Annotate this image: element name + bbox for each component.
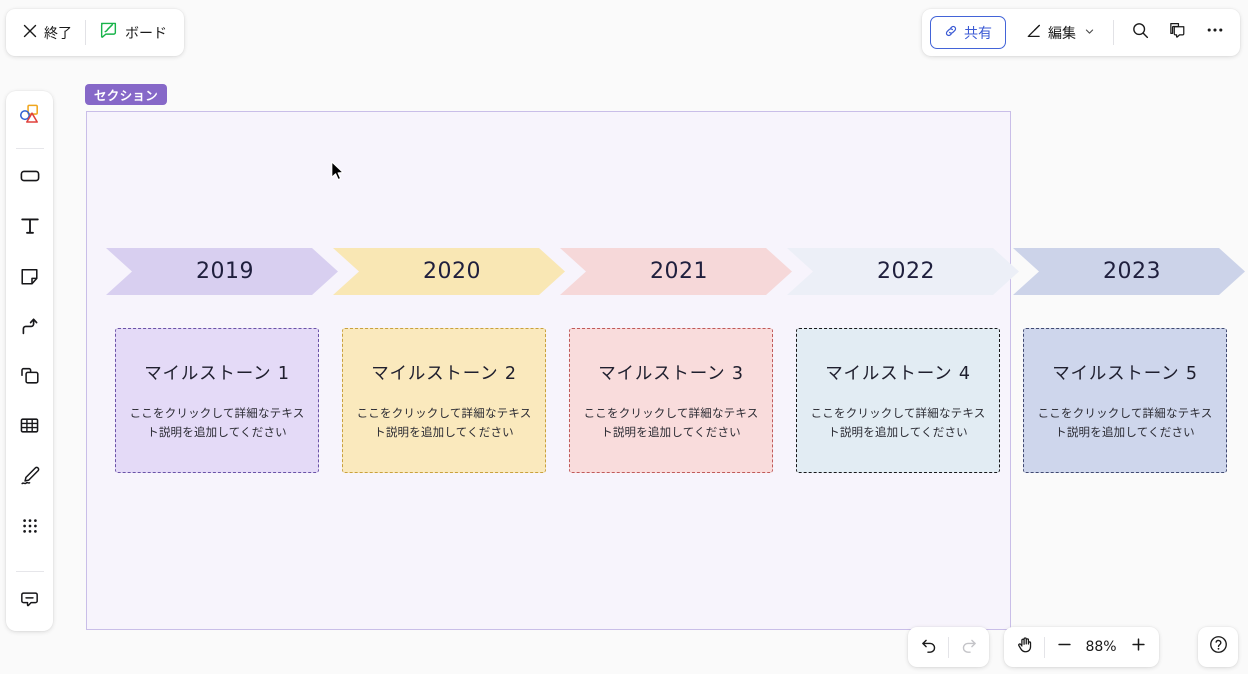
frame-icon	[18, 364, 42, 393]
milestone-title: マイルストーン 4	[825, 360, 971, 385]
connector-icon	[18, 314, 42, 343]
milestone-card[interactable]: マイルストーン 3ここをクリックして詳細なテキスト説明を追加してください	[569, 328, 773, 473]
timeline-arrow-2019[interactable]: 2019	[106, 248, 338, 295]
sidebar-item-pen-draw[interactable]	[11, 457, 49, 499]
timeline-arrow-2022[interactable]: 2022	[787, 248, 1019, 295]
zoom-toolbar: 88%	[1004, 627, 1159, 667]
table-icon	[18, 414, 41, 442]
share-button[interactable]: 共有	[930, 16, 1006, 49]
timeline-arrow-2021[interactable]: 2021	[560, 248, 792, 295]
help-icon	[1208, 634, 1229, 660]
milestone-title: マイルストーン 1	[144, 360, 290, 385]
redo-button[interactable]	[952, 631, 984, 663]
hand-icon	[1016, 635, 1035, 659]
link-icon	[944, 24, 958, 42]
sidebar-item-frame[interactable]	[11, 357, 49, 399]
milestone-title: マイルストーン 2	[371, 360, 517, 385]
more-horizontal-icon	[1205, 20, 1225, 45]
pen-icon	[1026, 23, 1042, 43]
milestone-description: ここをクリックして詳細なテキスト説明を追加してください	[355, 404, 533, 442]
board-label: ボード	[125, 23, 167, 43]
sidebar-item-comment[interactable]	[11, 581, 49, 623]
timeline-arrow-2023[interactable]: 2023	[1013, 248, 1245, 295]
undo-icon	[920, 635, 939, 659]
zoom-in-button[interactable]	[1122, 631, 1154, 663]
exit-label: 終了	[44, 23, 72, 43]
sidebar-item-shapes-library[interactable]	[11, 97, 49, 139]
toolbar-divider	[16, 148, 44, 149]
timeline-year-label: 2021	[644, 259, 708, 284]
zoom-level-label[interactable]: 88%	[1080, 639, 1122, 655]
plus-icon	[1129, 635, 1148, 659]
timeline-year-label: 2022	[871, 259, 935, 284]
edit-label: 編集	[1048, 23, 1076, 43]
edit-mode-button[interactable]: 編集	[1015, 16, 1104, 49]
more-tools-icon	[18, 514, 42, 543]
share-label: 共有	[964, 23, 992, 43]
board-button[interactable]: ボード	[88, 15, 178, 50]
top-left-toolbar: 終了 ボード	[6, 9, 184, 56]
search-button[interactable]	[1123, 15, 1158, 50]
left-toolbar	[6, 91, 53, 631]
close-icon	[23, 24, 37, 42]
pen-draw-icon	[18, 464, 42, 493]
whiteboard-app: セクション 20192020202120222023 マイルストーン 1ここをク…	[0, 0, 1248, 674]
comment-panel-icon	[1168, 21, 1187, 45]
milestone-description: ここをクリックして詳細なテキスト説明を追加してください	[128, 404, 306, 442]
toolbar-divider	[1113, 20, 1114, 45]
sidebar-item-text[interactable]	[11, 208, 49, 250]
search-icon	[1131, 21, 1150, 45]
sidebar-item-connector[interactable]	[11, 308, 49, 350]
toolbar-divider	[948, 637, 949, 658]
milestone-description: ここをクリックして詳細なテキスト説明を追加してください	[582, 404, 760, 442]
sidebar-item-rectangle[interactable]	[11, 158, 49, 200]
rectangle-icon	[18, 164, 42, 193]
milestone-card[interactable]: マイルストーン 1ここをクリックして詳細なテキスト説明を追加してください	[115, 328, 319, 473]
top-right-toolbar: 共有 編集	[922, 9, 1240, 56]
zoom-out-button[interactable]	[1048, 631, 1080, 663]
timeline-year-label: 2019	[190, 259, 254, 284]
milestone-card[interactable]: マイルストーン 4ここをクリックして詳細なテキスト説明を追加してください	[796, 328, 1000, 473]
minus-icon	[1055, 635, 1074, 659]
milestone-card[interactable]: マイルストーン 5ここをクリックして詳細なテキスト説明を追加してください	[1023, 328, 1227, 473]
milestone-title: マイルストーン 3	[598, 360, 744, 385]
help-button[interactable]	[1202, 631, 1234, 663]
chevron-down-icon	[1084, 25, 1095, 41]
sticky-note-icon	[18, 265, 41, 293]
more-options-button[interactable]	[1197, 15, 1232, 50]
timeline-arrows-row: 20192020202120222023	[0, 248, 1248, 295]
sidebar-item-table[interactable]	[11, 407, 49, 449]
sidebar-item-sticky-note[interactable]	[11, 258, 49, 300]
timeline-arrow-2020[interactable]: 2020	[333, 248, 565, 295]
sidebar-item-more-tools[interactable]	[11, 507, 49, 549]
comment-panel-button[interactable]	[1160, 15, 1195, 50]
section-label[interactable]: セクション	[85, 84, 167, 105]
comment-icon	[18, 588, 41, 616]
shapes-library-icon	[17, 103, 42, 133]
canvas[interactable]: セクション 20192020202120222023 マイルストーン 1ここをク…	[0, 0, 1248, 674]
milestone-title: マイルストーン 5	[1052, 360, 1198, 385]
milestone-card[interactable]: マイルストーン 2ここをクリックして詳細なテキスト説明を追加してください	[342, 328, 546, 473]
timeline-year-label: 2020	[417, 259, 481, 284]
timeline-year-label: 2023	[1097, 259, 1161, 284]
help-toolbar	[1198, 627, 1238, 667]
milestone-description: ここをクリックして詳細なテキスト説明を追加してください	[1036, 404, 1214, 442]
toolbar-divider	[85, 20, 86, 45]
text-icon	[18, 214, 42, 243]
undo-button[interactable]	[913, 631, 945, 663]
milestone-description: ここをクリックして詳細なテキスト説明を追加してください	[809, 404, 987, 442]
toolbar-divider	[16, 571, 44, 572]
undo-redo-toolbar	[908, 627, 989, 667]
redo-icon	[959, 635, 978, 659]
toolbar-divider	[1044, 637, 1045, 658]
hand-tool-button[interactable]	[1009, 631, 1041, 663]
exit-button[interactable]: 終了	[12, 15, 83, 50]
board-icon	[99, 21, 118, 44]
